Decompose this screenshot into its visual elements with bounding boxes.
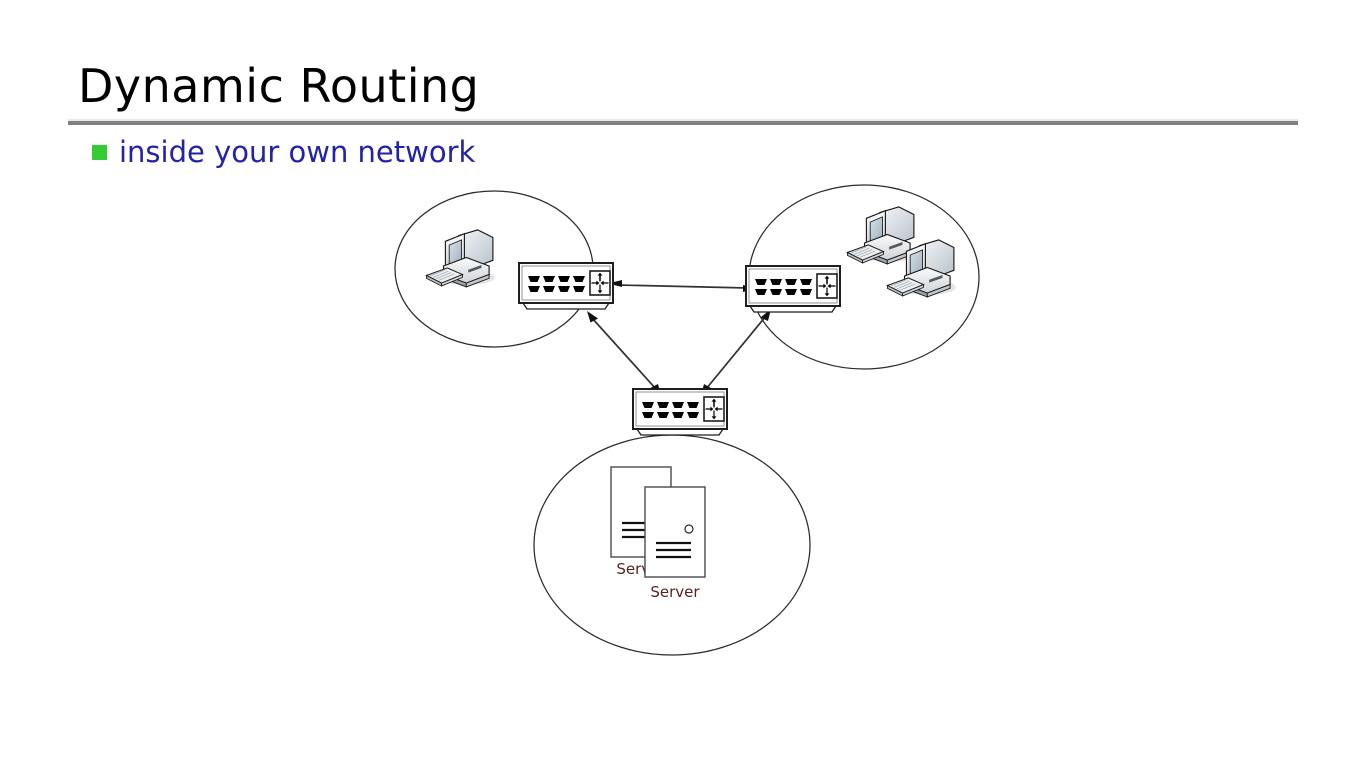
bullet-item-label: inside your own network [119, 138, 475, 167]
server-icon-front [645, 487, 705, 577]
zone-left [426, 230, 613, 309]
title-divider [68, 119, 1298, 125]
router-icon-right [746, 266, 840, 312]
page-title: Dynamic Routing [78, 62, 479, 110]
link-right-bottom-line [706, 316, 766, 389]
square-bullet-icon [92, 145, 107, 160]
desktop-computer-icon [426, 230, 494, 287]
divider-rule [68, 121, 1298, 125]
zone-left-boundary [395, 191, 593, 347]
network-topology-diagram: Server Server [0, 0, 1366, 768]
zone-bottom: Server Server [611, 389, 727, 601]
bullet-list-item: inside your own network [92, 138, 475, 167]
link-left-right-head-left [608, 280, 622, 287]
link-left-bottom-head-down [651, 384, 662, 396]
server-label-front: Server [650, 583, 700, 601]
network-links [587, 280, 771, 396]
zone-boundaries [395, 185, 979, 655]
zone-right [746, 207, 956, 312]
zone-bottom-boundary [534, 435, 810, 655]
link-left-bottom-head-up [587, 311, 598, 323]
server-icon-back [611, 467, 671, 557]
link-right-bottom-head-down [701, 384, 711, 396]
link-left-right-head-right [743, 285, 757, 292]
link-right-bottom-head-up [761, 309, 772, 321]
zone-right-boundary [749, 185, 979, 369]
router-icon-left [519, 263, 613, 309]
desktop-computer-icon [887, 240, 955, 297]
router-icon-bottom [633, 389, 727, 435]
link-left-bottom-line [592, 318, 656, 389]
desktop-computer-icon [847, 207, 915, 264]
server-label-back: Server [616, 560, 666, 578]
link-left-right-line [617, 285, 748, 288]
